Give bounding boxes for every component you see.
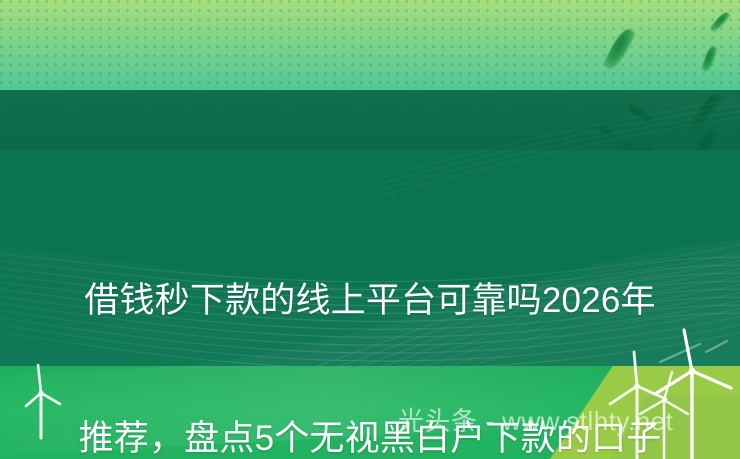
headline-line-1: 借钱秒下款的线上平台可靠吗2026年	[0, 278, 740, 324]
promo-banner: 借钱秒下款的线上平台可靠吗2026年 推荐，盘点5个无视黑白户下款的口子 光头条…	[0, 0, 740, 459]
watermark-text: 光头条 - www.stlhty.net	[398, 406, 673, 436]
